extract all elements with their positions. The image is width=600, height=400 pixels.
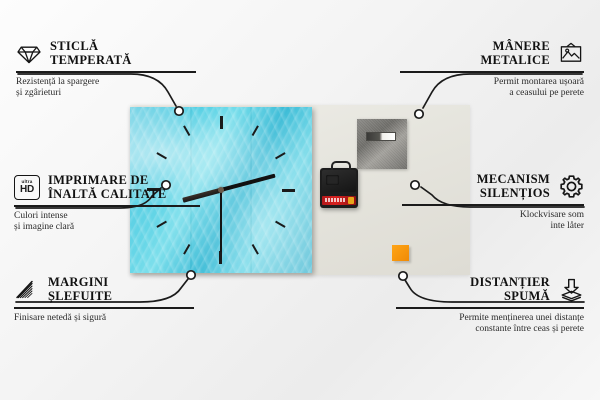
ultra-hd-icon: ultra HD bbox=[14, 175, 40, 201]
feature-subtitle: Permit montarea ușoarăa ceasului pe pere… bbox=[400, 77, 584, 100]
feature-polished-edges: MARGINIȘLEFUITE Finisare netedă și sigur… bbox=[14, 276, 194, 324]
clock-second-hand bbox=[220, 190, 222, 252]
infographic-stage: STICLĂTEMPERATĂ Rezistență la spargereși… bbox=[0, 0, 600, 400]
feature-title: IMPRIMARE DEÎNALTĂ CALITATE bbox=[48, 174, 167, 201]
feature-foam-spacer: DISTANȚIERSPUMĂ Permite menținerea unei … bbox=[396, 276, 584, 336]
feature-subtitle: Rezistență la spargereși zgârieturi bbox=[16, 77, 196, 100]
feature-title: DISTANȚIERSPUMĂ bbox=[470, 276, 550, 303]
aa-battery bbox=[322, 196, 356, 205]
feature-divider bbox=[14, 307, 194, 309]
feature-subtitle: Permite menținerea unei distanțeconstant… bbox=[396, 313, 584, 336]
feature-divider bbox=[396, 307, 584, 309]
metal-texture bbox=[357, 119, 407, 169]
feature-divider bbox=[402, 204, 584, 206]
feature-title: STICLĂTEMPERATĂ bbox=[50, 40, 132, 67]
feature-title: MARGINIȘLEFUITE bbox=[48, 276, 112, 303]
picture-hanger-icon bbox=[558, 41, 584, 67]
hd-label: HD bbox=[20, 185, 34, 195]
feature-subtitle: Culori intenseși imagine clară bbox=[14, 211, 200, 234]
feature-divider bbox=[16, 71, 196, 73]
feature-title: MÂNEREMETALICE bbox=[480, 40, 550, 67]
movement-housing bbox=[322, 170, 356, 192]
feature-silent-mechanism: MECANISMSILENȚIOS Klockvisare sominte lå… bbox=[402, 173, 584, 233]
feature-hd-printing: ultra HD IMPRIMARE DEÎNALTĂ CALITATE Cul… bbox=[14, 174, 200, 234]
quartz-movement bbox=[320, 168, 358, 208]
press-pad-icon bbox=[558, 277, 584, 303]
clock-center-pin bbox=[218, 187, 224, 193]
feature-title: MECANISMSILENȚIOS bbox=[477, 173, 550, 200]
feature-subtitle: Finisare netedă și sigură bbox=[14, 313, 194, 325]
hanger-slot bbox=[366, 132, 396, 141]
foam-spacer-pad bbox=[392, 245, 409, 261]
gear-icon bbox=[558, 174, 584, 200]
metal-hanger-plate bbox=[357, 119, 407, 169]
feature-divider bbox=[400, 71, 584, 73]
feature-subtitle: Klockvisare sominte låter bbox=[402, 210, 584, 233]
feature-divider bbox=[14, 205, 200, 207]
diamond-icon bbox=[16, 41, 42, 67]
feature-metal-handles: MÂNEREMETALICE Permit montarea ușoarăa c… bbox=[400, 40, 584, 100]
feature-tempered-glass: STICLĂTEMPERATĂ Rezistență la spargereși… bbox=[16, 40, 196, 100]
polished-edge-icon bbox=[14, 277, 40, 303]
